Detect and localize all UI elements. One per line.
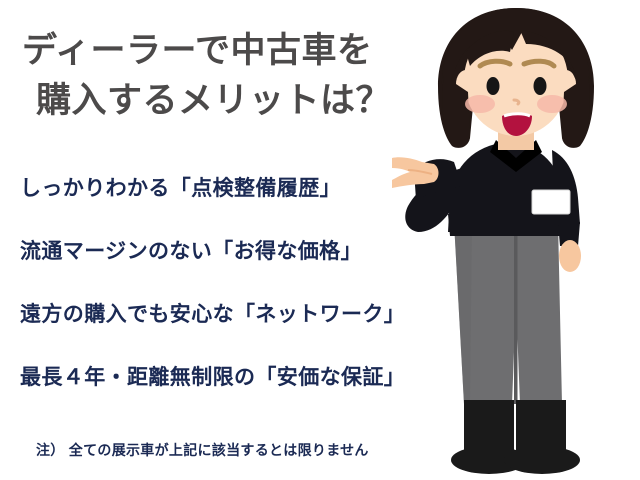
poster-canvas: ディーラーで中古車を 購入するメリットは？ しっかりわかる「点検整備履歴」 流通…: [0, 0, 640, 480]
trousers-shape: [454, 222, 562, 404]
page-title-line-2: 購入するメリットは？: [0, 76, 430, 126]
footnote-note: 注） 全ての展示車が上記に該当するとは限りません: [36, 440, 369, 460]
name-tag-shape: [532, 190, 570, 214]
page-title-line-1: ディーラーで中古車を: [0, 26, 430, 76]
female-sales-staff-illustration: [392, 0, 640, 480]
page-title: ディーラーで中古車を 購入するメリットは？: [0, 26, 430, 125]
shoes-shape: [451, 400, 580, 474]
